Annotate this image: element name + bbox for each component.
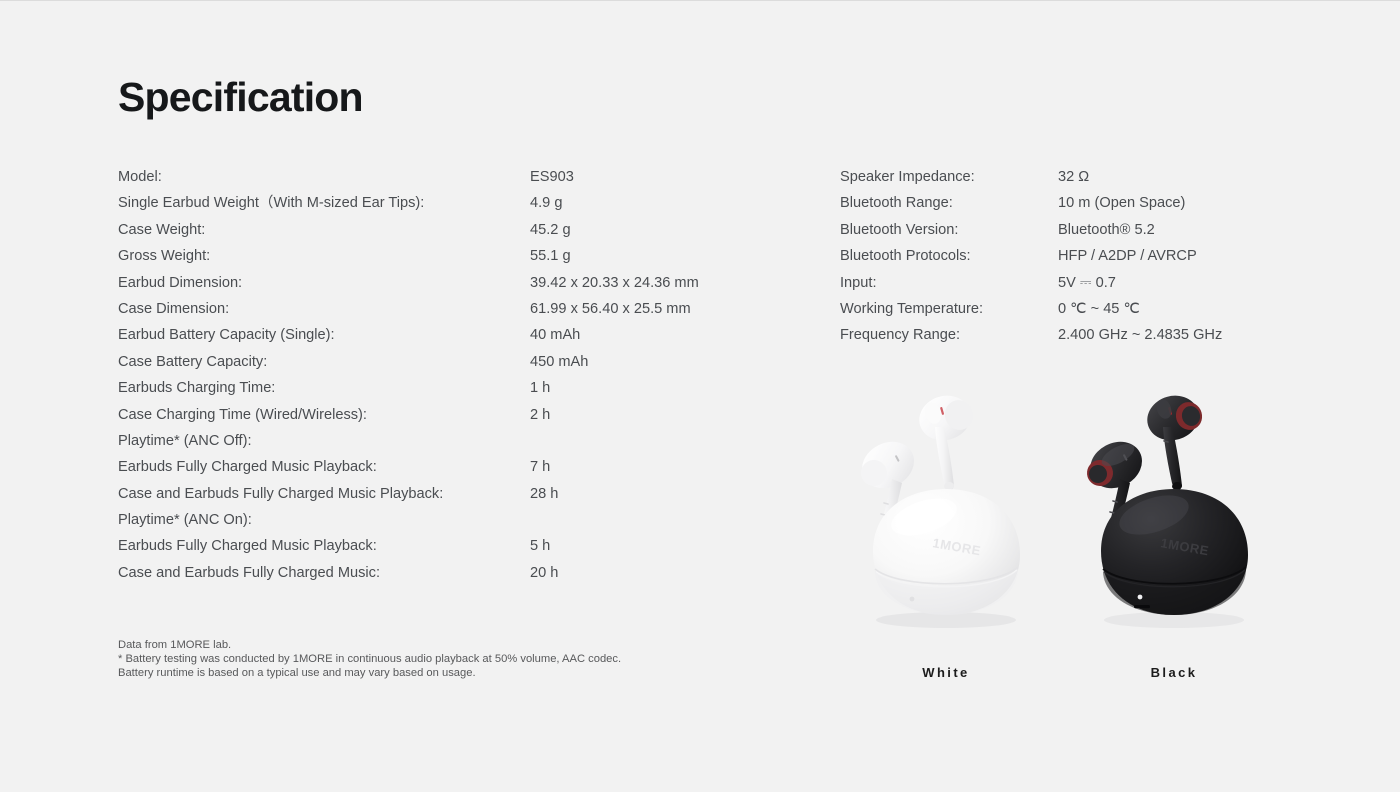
spec-row: Bluetooth Protocols:HFP / A2DP / AVRCP	[840, 243, 1280, 269]
spec-value: 40 mAh	[530, 322, 818, 348]
spec-label: Bluetooth Range:	[840, 190, 1058, 216]
product-caption-black: Black	[1068, 665, 1278, 680]
spec-row: Case Charging Time (Wired/Wireless):2 h	[118, 402, 818, 428]
spec-label: Gross Weight:	[118, 243, 530, 269]
footnote-line-3: Battery runtime is based on a typical us…	[118, 666, 621, 680]
spec-label: Playtime* (ANC On):	[118, 507, 530, 533]
spec-value: 1 h	[530, 375, 818, 401]
footnote-line-1: Data from 1MORE lab.	[118, 638, 621, 652]
spec-label: Case Dimension:	[118, 296, 530, 322]
spec-row: Case Battery Capacity:450 mAh	[118, 349, 818, 375]
spec-row-section-anc-on: Playtime* (ANC On):	[118, 507, 818, 533]
spec-label: Earbuds Fully Charged Music Playback:	[118, 533, 530, 559]
spec-label: Single Earbud Weight（With M-sized Ear Ti…	[118, 190, 530, 216]
product-photo-white-earbuds: 1MORE	[840, 383, 1050, 638]
product-photo-black-earbuds: 1MORE	[1068, 383, 1278, 638]
spec-value: 2 h	[530, 402, 818, 428]
spec-value: 39.42 x 20.33 x 24.36 mm	[530, 270, 818, 296]
spec-row: Speaker Impedance:32 Ω	[840, 164, 1280, 190]
spec-value: 2.400 GHz ~ 2.4835 GHz	[1058, 322, 1280, 348]
earbud-back-black	[1142, 390, 1205, 491]
spec-row: Working Temperature:0 ℃ ~ 45 ℃	[840, 296, 1280, 322]
spec-value: 32 Ω	[1058, 164, 1280, 190]
spec-value: 10 m (Open Space)	[1058, 190, 1280, 216]
spec-value: ES903	[530, 164, 818, 190]
spec-label: Earbuds Charging Time:	[118, 375, 530, 401]
spec-row: Earbud Battery Capacity (Single):40 mAh	[118, 322, 818, 348]
spec-value: 61.99 x 56.40 x 25.5 mm	[530, 296, 818, 322]
charging-case-black: 1MORE	[1101, 488, 1248, 615]
spec-row: Bluetooth Range:10 m (Open Space)	[840, 190, 1280, 216]
footnote: Data from 1MORE lab. * Battery testing w…	[118, 638, 621, 681]
spec-value: HFP / A2DP / AVRCP	[1058, 243, 1280, 269]
spec-label: Playtime* (ANC Off):	[118, 428, 530, 454]
spec-row: Model:ES903	[118, 164, 818, 190]
spec-label: Input:	[840, 270, 1058, 296]
product-gallery: 1MORE White	[820, 383, 1280, 693]
spec-row: Case and Earbuds Fully Charged Music Pla…	[118, 481, 818, 507]
spec-row: Case Dimension:61.99 x 56.40 x 25.5 mm	[118, 296, 818, 322]
spec-label: Bluetooth Version:	[840, 217, 1058, 243]
spec-row: Single Earbud Weight（With M-sized Ear Ti…	[118, 190, 818, 216]
spec-row: Frequency Range:2.400 GHz ~ 2.4835 GHz	[840, 322, 1280, 348]
spec-value: 450 mAh	[530, 349, 818, 375]
spec-value: 20 h	[530, 560, 818, 586]
spec-row: Case and Earbuds Fully Charged Music:20 …	[118, 560, 818, 586]
product-black: 1MORE Black	[1068, 383, 1278, 693]
product-white: 1MORE White	[840, 383, 1050, 693]
spec-label: Case and Earbuds Fully Charged Music:	[118, 560, 530, 586]
spec-value: 55.1 g	[530, 243, 818, 269]
spec-label: Working Temperature:	[840, 296, 1058, 322]
spec-row: Earbuds Fully Charged Music Playback:5 h	[118, 533, 818, 559]
footnote-line-2: * Battery testing was conducted by 1MORE…	[118, 652, 621, 666]
spec-label: Earbuds Fully Charged Music Playback:	[118, 454, 530, 480]
specification-page: Specification Model:ES903 Single Earbud …	[0, 0, 1400, 792]
spec-column-left: Model:ES903 Single Earbud Weight（With M-…	[118, 164, 818, 586]
spec-value: 4.9 g	[530, 190, 818, 216]
spec-label: Case Battery Capacity:	[118, 349, 530, 375]
spec-label: Frequency Range:	[840, 322, 1058, 348]
spec-value: 7 h	[530, 454, 818, 480]
product-caption-white: White	[840, 665, 1050, 680]
spec-label: Case and Earbuds Fully Charged Music Pla…	[118, 481, 530, 507]
spec-column-right: Speaker Impedance:32 Ω Bluetooth Range:1…	[840, 164, 1280, 349]
charging-case-white: 1MORE	[873, 489, 1020, 615]
spec-label: Model:	[118, 164, 530, 190]
spec-value: 5V ⎓ 0.7	[1058, 270, 1280, 296]
spec-label: Case Charging Time (Wired/Wireless):	[118, 402, 530, 428]
spec-label: Case Weight:	[118, 217, 530, 243]
spec-value: 5 h	[530, 533, 818, 559]
spec-label: Earbud Dimension:	[118, 270, 530, 296]
spec-row: Earbud Dimension:39.42 x 20.33 x 24.36 m…	[118, 270, 818, 296]
spec-label: Earbud Battery Capacity (Single):	[118, 322, 530, 348]
spec-row: Bluetooth Version:Bluetooth® 5.2	[840, 217, 1280, 243]
earbud-back-white	[914, 390, 977, 491]
spec-value: 28 h	[530, 481, 818, 507]
spec-value: Bluetooth® 5.2	[1058, 217, 1280, 243]
spec-row: Earbuds Charging Time:1 h	[118, 375, 818, 401]
spec-label: Bluetooth Protocols:	[840, 243, 1058, 269]
spec-row-section-anc-off: Playtime* (ANC Off):	[118, 428, 818, 454]
spec-label: Speaker Impedance:	[840, 164, 1058, 190]
spec-row: Earbuds Fully Charged Music Playback:7 h	[118, 454, 818, 480]
spec-value: 45.2 g	[530, 217, 818, 243]
spec-row: Case Weight:45.2 g	[118, 217, 818, 243]
spec-row: Gross Weight:55.1 g	[118, 243, 818, 269]
page-title: Specification	[118, 77, 363, 118]
spec-value: 0 ℃ ~ 45 ℃	[1058, 296, 1280, 322]
spec-row: Input:5V ⎓ 0.7	[840, 270, 1280, 296]
